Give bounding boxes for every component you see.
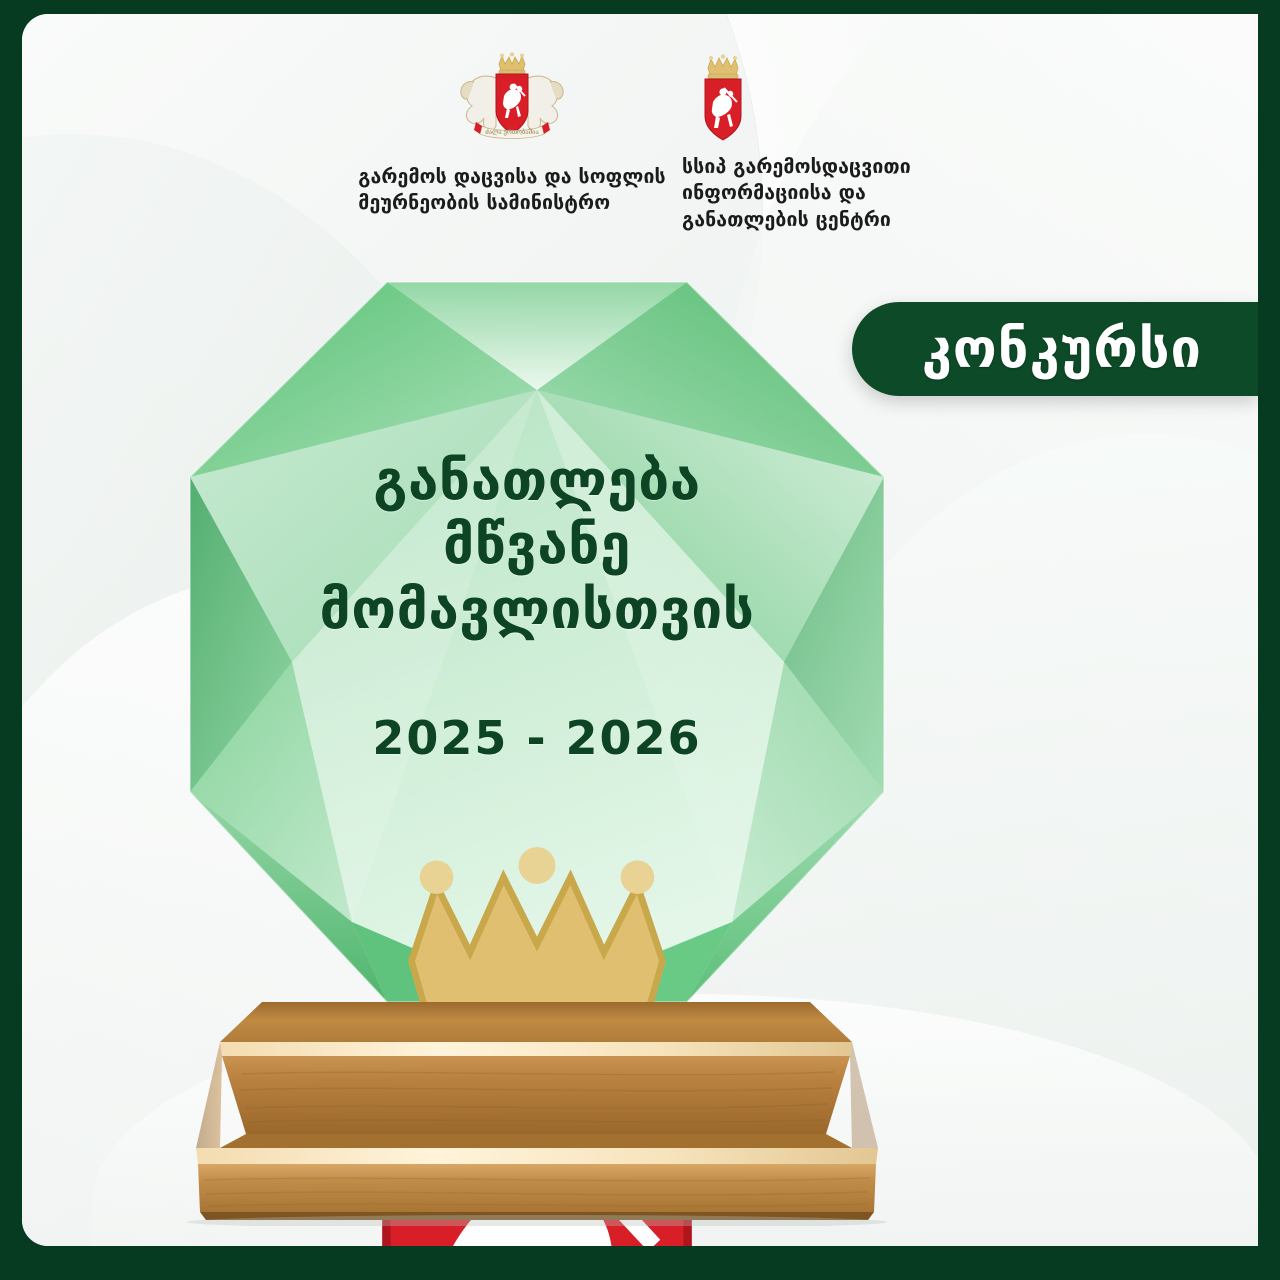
center-line-3: განათლების ცენტრი [682, 207, 911, 233]
wooden-base-icon [162, 996, 912, 1226]
georgia-shield-crest-icon [682, 52, 754, 144]
center-logo-text: სსიპ გარემოსდაცვითი ინფორმაციისა და განა… [682, 154, 911, 233]
wooden-base [162, 996, 912, 1226]
konkursi-badge-label: კონკურსი [922, 322, 1202, 376]
ministry-logo-text: გარემოს დაცვისა და სოფლის მეურნეობის სამ… [358, 164, 665, 217]
poster-card: ძალა ერთობაშია გარემოს დაცვისა და სოფლის… [22, 14, 1258, 1246]
center-line-1: სსიპ გარემოსდაცვითი [682, 154, 911, 180]
konkursi-badge[interactable]: კონკურსი [852, 302, 1258, 396]
glass-trophy: განათლება მწვანე მომავლისთვის 2025 - 202… [172, 262, 902, 1032]
trophy-facets-icon [172, 262, 902, 1032]
header: ძალა ერთობაშია გარემოს დაცვისა და სოფლის… [22, 52, 1258, 232]
ministry-line-2: მეურნეობის სამინისტრო [358, 190, 665, 216]
poster-root: ძალა ერთობაშია გარემოს დაცვისა და სოფლის… [0, 0, 1280, 1280]
georgia-coat-of-arms-icon: ძალა ერთობაშია [452, 52, 572, 152]
svg-text:ძალა ერთობაშია: ძალა ერთობაშია [485, 129, 539, 136]
center-logo: სსიპ გარემოსდაცვითი ინფორმაციისა და განა… [682, 52, 1012, 233]
ministry-line-1: გარემოს დაცვისა და სოფლის [358, 164, 665, 190]
ministry-logo: ძალა ერთობაშია გარემოს დაცვისა და სოფლის… [332, 52, 692, 217]
center-line-2: ინფორმაციისა და [682, 180, 911, 206]
